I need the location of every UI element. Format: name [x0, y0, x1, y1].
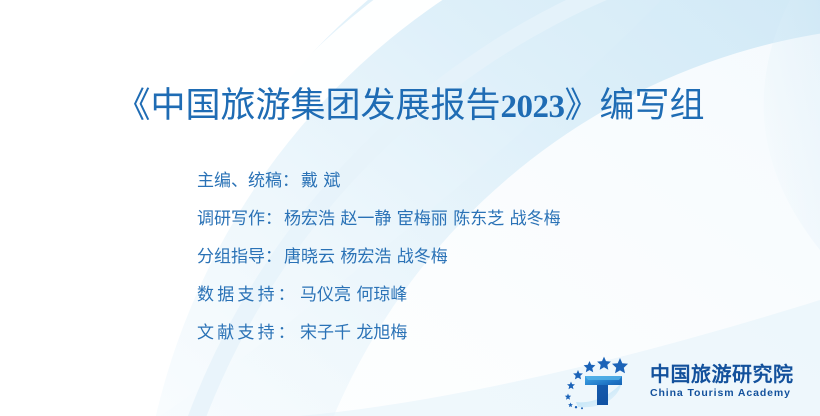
title-bracket-open: 《	[115, 86, 150, 126]
credit-value-chief-editor: 戴 斌	[299, 166, 340, 191]
credit-row-research-writing: 调研写作： 杨宏浩 赵一静 宦梅丽 陈东芝 战冬梅	[197, 204, 797, 242]
credit-label-literature-support: 文献支持：	[197, 318, 298, 343]
credit-label-research-writing: 调研写作：	[197, 204, 282, 229]
slide-title: 《中国旅游集团发展报告2023》编写组	[115, 85, 704, 129]
credit-label-group-guidance: 分组指导：	[197, 242, 282, 267]
credit-row-chief-editor: 主编、统稿： 戴 斌	[197, 166, 797, 204]
t-stars-icon	[552, 352, 644, 410]
credit-row-literature-support: 文献支持： 宋子千 龙旭梅	[197, 318, 797, 356]
logo-mark	[552, 352, 644, 410]
title-main-text: 中国旅游集团发展报告	[150, 86, 500, 126]
china-tourism-academy-logo: 中国旅游研究院 China Tourism Academy	[552, 352, 806, 410]
slide-canvas: 《中国旅游集团发展报告2023》编写组 主编、统稿： 戴 斌 调研写作： 杨宏浩…	[0, 0, 820, 416]
credit-label-chief-editor: 主编、统稿：	[197, 166, 299, 191]
credit-value-group-guidance: 唐晓云 杨宏浩 战冬梅	[282, 242, 448, 267]
title-tail-text: 编写组	[600, 86, 705, 126]
logo-name-en: China Tourism Academy	[650, 388, 794, 399]
title-year: 2023	[501, 89, 565, 125]
title-bracket-close: 》	[565, 86, 600, 126]
credit-value-data-support: 马仪亮 何琼峰	[298, 280, 407, 305]
credit-value-literature-support: 宋子千 龙旭梅	[298, 318, 407, 343]
credit-value-research-writing: 杨宏浩 赵一静 宦梅丽 陈东芝 战冬梅	[282, 204, 561, 229]
credits-list: 主编、统稿： 戴 斌 调研写作： 杨宏浩 赵一静 宦梅丽 陈东芝 战冬梅 分组指…	[197, 166, 797, 356]
credit-row-group-guidance: 分组指导： 唐晓云 杨宏浩 战冬梅	[197, 242, 797, 280]
credit-row-data-support: 数据支持： 马仪亮 何琼峰	[197, 280, 797, 318]
slide-title-container: 《中国旅游集团发展报告2023》编写组	[0, 62, 820, 153]
logo-wordmark: 中国旅游研究院 China Tourism Academy	[650, 364, 794, 399]
credit-label-data-support: 数据支持：	[197, 280, 298, 305]
logo-name-cn: 中国旅游研究院	[650, 364, 794, 384]
